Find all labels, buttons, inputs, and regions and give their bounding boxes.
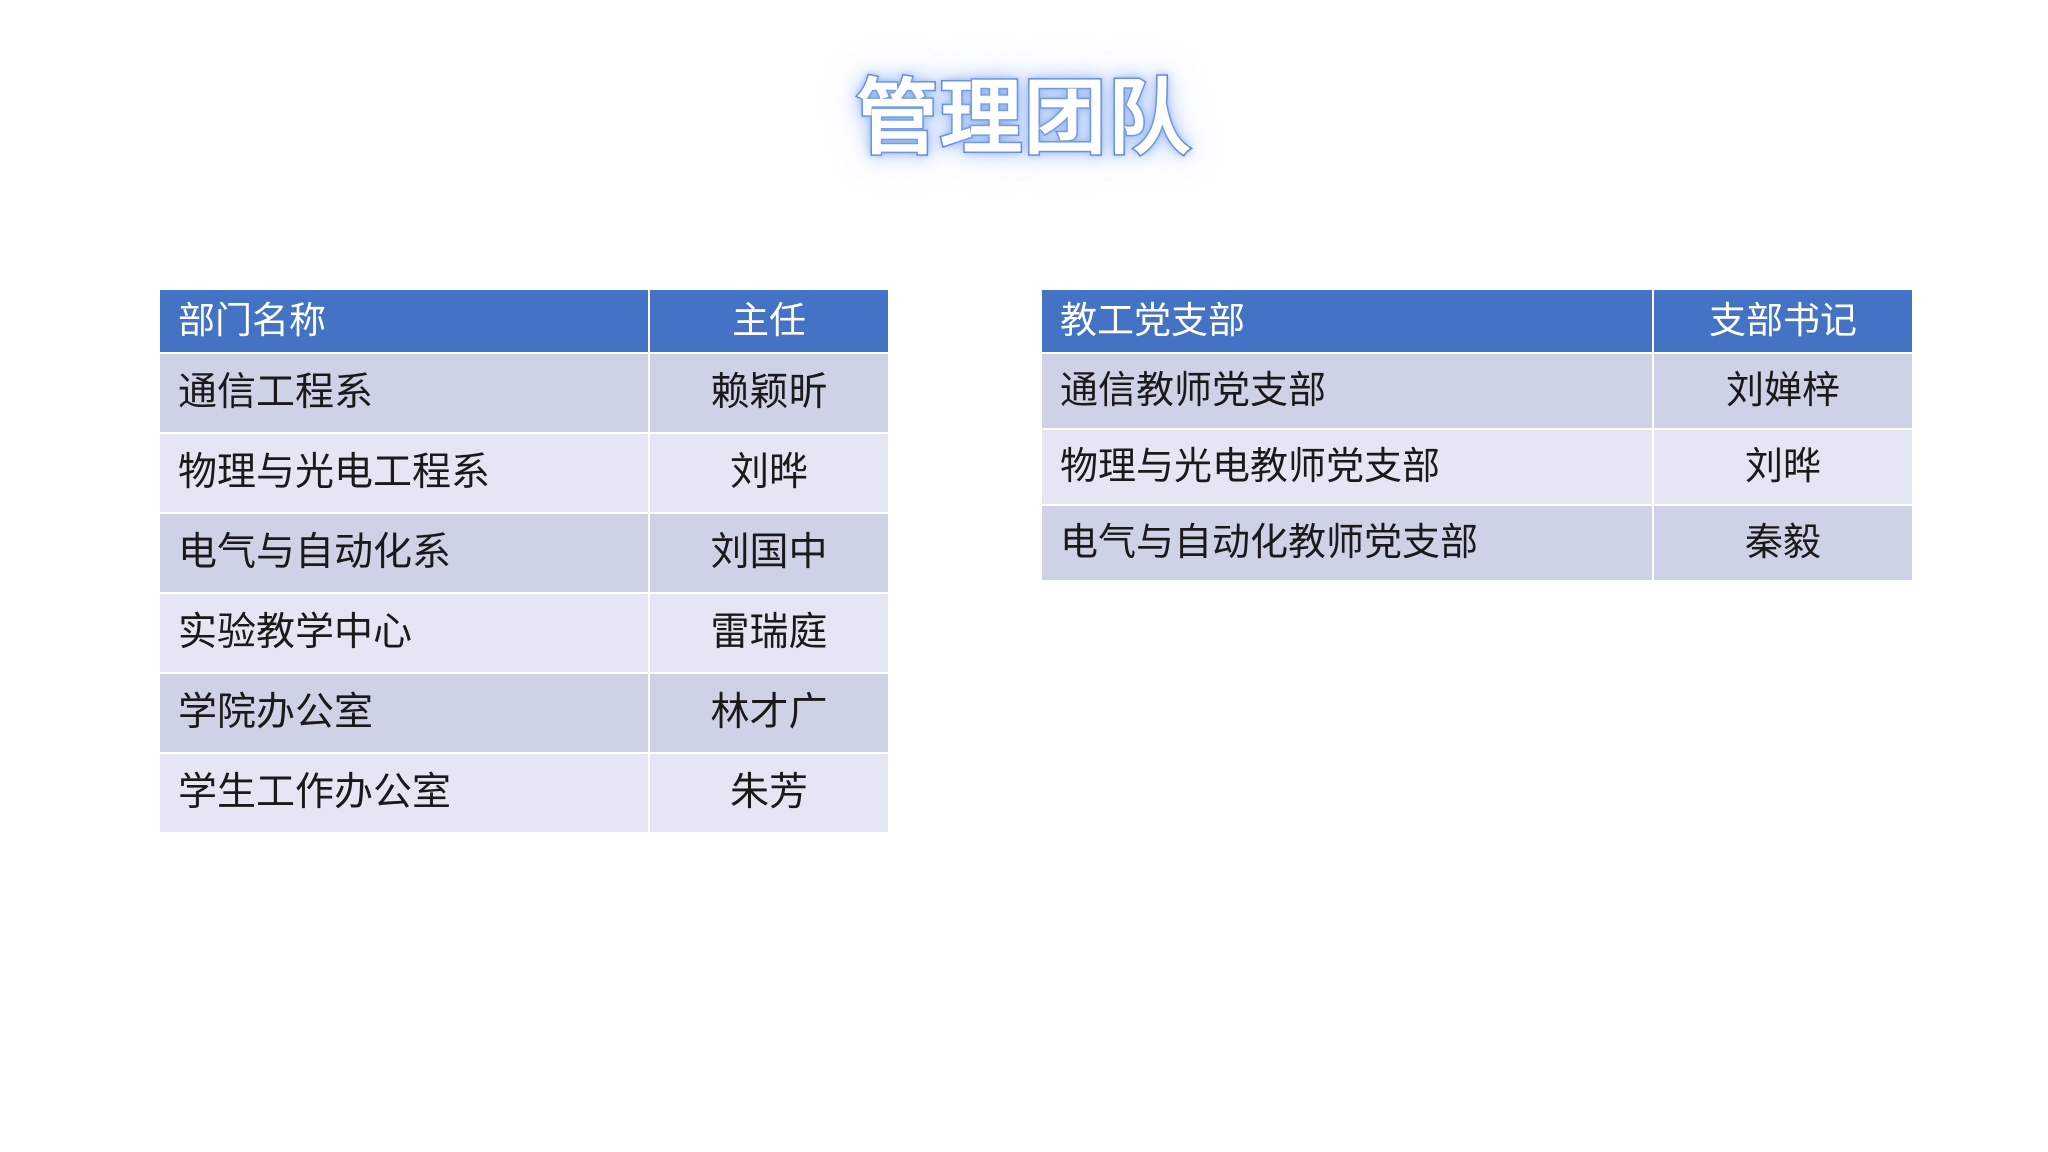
table-row: 实验教学中心 雷瑞庭: [160, 594, 888, 672]
table-row: 电气与自动化教师党支部 秦毅: [1042, 506, 1912, 580]
table-row: 通信工程系 赖颖昕: [160, 354, 888, 432]
cell-branch-secretary-name: 刘婵梓: [1654, 354, 1912, 428]
party-branch-table: 教工党支部 支部书记 通信教师党支部 刘婵梓 物理与光电教师党支部 刘晔 电气与…: [1040, 288, 1908, 582]
departments-table: 部门名称 主任 通信工程系 赖颖昕 物理与光电工程系 刘晔 电气与自动化系 刘国…: [158, 288, 884, 834]
page-title-text: 管理团队: [856, 78, 1192, 160]
table-header-row: 教工党支部 支部书记: [1042, 290, 1912, 352]
cell-director-name: 赖颖昕: [650, 354, 888, 432]
cell-department-name: 通信工程系: [160, 354, 648, 432]
table-row: 物理与光电教师党支部 刘晔: [1042, 430, 1912, 504]
cell-department-name: 学生工作办公室: [160, 754, 648, 832]
column-header-branch-secretary: 支部书记: [1654, 290, 1912, 352]
table-row: 学生工作办公室 朱芳: [160, 754, 888, 832]
column-header-party-branch: 教工党支部: [1042, 290, 1652, 352]
cell-department-name: 物理与光电工程系: [160, 434, 648, 512]
table-row: 学院办公室 林才广: [160, 674, 888, 752]
table-header-row: 部门名称 主任: [160, 290, 888, 352]
table: 教工党支部 支部书记 通信教师党支部 刘婵梓 物理与光电教师党支部 刘晔 电气与…: [1040, 288, 1914, 582]
cell-director-name: 林才广: [650, 674, 888, 752]
table-body: 通信工程系 赖颖昕 物理与光电工程系 刘晔 电气与自动化系 刘国中 实验教学中心…: [160, 354, 888, 832]
cell-branch-secretary-name: 秦毅: [1654, 506, 1912, 580]
cell-department-name: 实验教学中心: [160, 594, 648, 672]
cell-party-branch-name: 通信教师党支部: [1042, 354, 1652, 428]
table-row: 物理与光电工程系 刘晔: [160, 434, 888, 512]
cell-department-name: 电气与自动化系: [160, 514, 648, 592]
cell-department-name: 学院办公室: [160, 674, 648, 752]
page-title: 管理团队: [0, 78, 2048, 160]
cell-director-name: 刘国中: [650, 514, 888, 592]
cell-branch-secretary-name: 刘晔: [1654, 430, 1912, 504]
table-header: 教工党支部 支部书记: [1042, 290, 1912, 352]
table-body: 通信教师党支部 刘婵梓 物理与光电教师党支部 刘晔 电气与自动化教师党支部 秦毅: [1042, 354, 1912, 580]
column-header-department-name: 部门名称: [160, 290, 648, 352]
cell-party-branch-name: 物理与光电教师党支部: [1042, 430, 1652, 504]
cell-director-name: 雷瑞庭: [650, 594, 888, 672]
table: 部门名称 主任 通信工程系 赖颖昕 物理与光电工程系 刘晔 电气与自动化系 刘国…: [158, 288, 890, 834]
cell-director-name: 刘晔: [650, 434, 888, 512]
table-row: 电气与自动化系 刘国中: [160, 514, 888, 592]
table-row: 通信教师党支部 刘婵梓: [1042, 354, 1912, 428]
cell-party-branch-name: 电气与自动化教师党支部: [1042, 506, 1652, 580]
table-header: 部门名称 主任: [160, 290, 888, 352]
column-header-director: 主任: [650, 290, 888, 352]
cell-director-name: 朱芳: [650, 754, 888, 832]
